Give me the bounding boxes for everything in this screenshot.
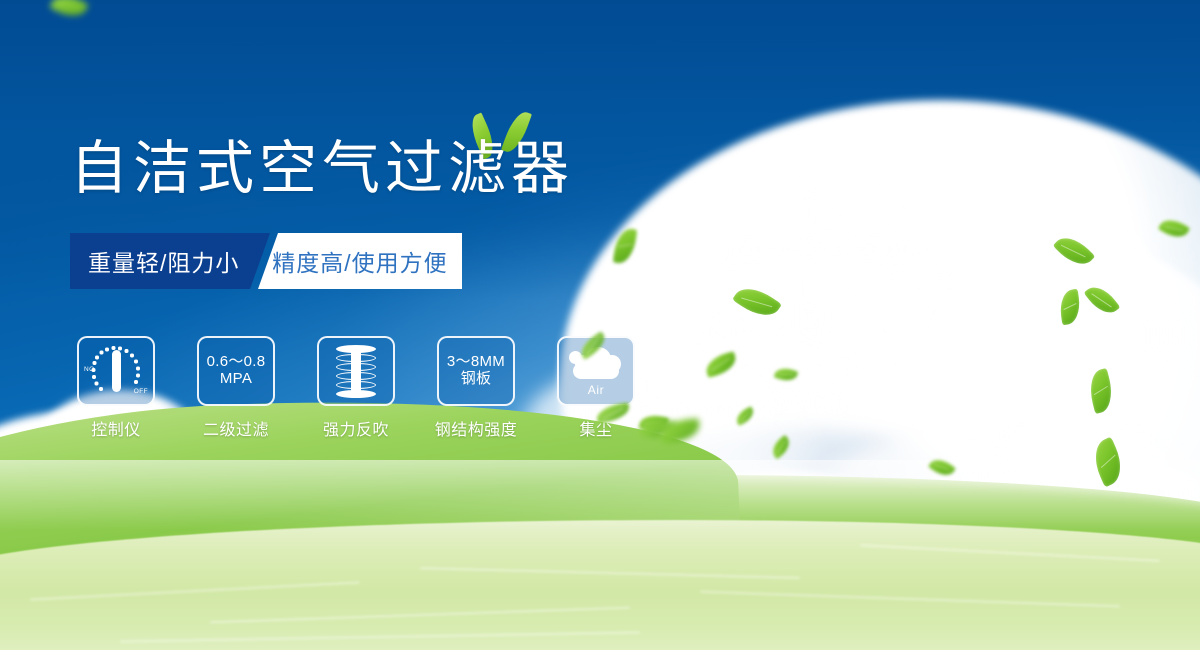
feature-icon-box (317, 336, 395, 406)
feature-icon-box: NO OFF (77, 336, 155, 406)
feature-label: 强力反吹 (310, 416, 402, 440)
steel-thickness-line2: 钢板 (461, 371, 492, 388)
feature-item-steel-strength[interactable]: 3～8MM 钢板 钢结构强度 (430, 336, 522, 440)
subtitle-right-tag: 精度高/使用方便 (258, 233, 462, 289)
air-label: Air (588, 383, 604, 397)
product-banner: 自洁式空气过滤器 重量轻/阻力小 精度高/使用方便 (0, 0, 1200, 650)
feature-item-two-stage-filter[interactable]: 0.6～0.8 MPA 二级过滤 (190, 336, 282, 440)
subtitle-left-tag: 重量轻/阻力小 (70, 233, 270, 289)
cartridge-disc (336, 381, 376, 389)
subtitle-bar: 重量轻/阻力小 精度高/使用方便 (70, 233, 462, 289)
hill-front (0, 520, 1200, 650)
cartridge-disc (336, 345, 376, 353)
dial-off-label: OFF (134, 389, 148, 396)
feature-item-controller[interactable]: NO OFF 控制仪 (70, 336, 162, 440)
feature-label: 钢结构强度 (430, 416, 522, 440)
steel-thickness-line1: 3～8MM (447, 354, 505, 371)
cartridge-disc (336, 372, 376, 380)
grass-field (0, 475, 1200, 650)
cartridge-disc (336, 363, 376, 371)
cartridge-disc (336, 354, 376, 362)
feature-icon-box: 3～8MM 钢板 (437, 336, 515, 406)
cartridge-disc (336, 390, 376, 398)
dial-on-label: NO (84, 367, 95, 374)
feature-list: NO OFF 控制仪 0.6～0.8 MPA 二级过滤 (70, 336, 642, 440)
dial-gauge-icon: NO OFF (86, 343, 146, 399)
feature-label: 控制仪 (70, 416, 162, 440)
pressure-value-line1: 0.6～0.8 (207, 354, 266, 371)
feature-item-strong-backblow[interactable]: 强力反吹 (310, 336, 402, 440)
dial-pointer (112, 350, 121, 392)
feature-label: 二级过滤 (190, 416, 282, 440)
page-title: 自洁式空气过滤器 (70, 140, 574, 198)
filter-cartridge-icon (334, 345, 378, 397)
pressure-value-line2: MPA (220, 371, 252, 388)
feature-icon-box: 0.6～0.8 MPA (197, 336, 275, 406)
